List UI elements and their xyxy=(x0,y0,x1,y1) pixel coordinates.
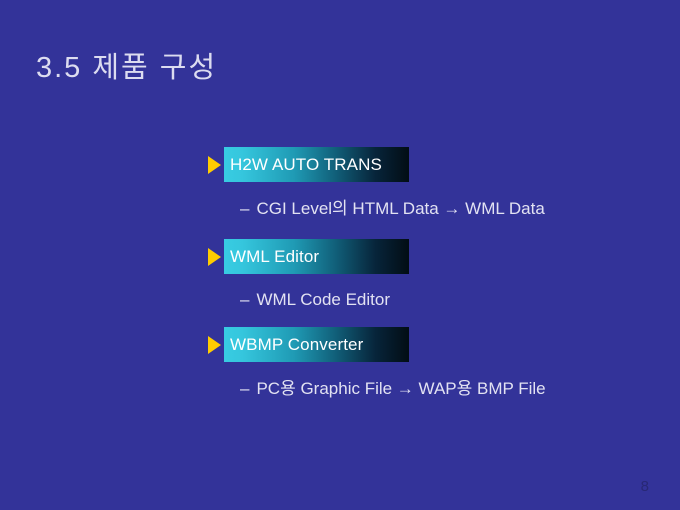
product-box-row[interactable]: WBMP Converter xyxy=(208,327,409,362)
product-detail-text: WML Code Editor xyxy=(256,289,390,311)
dash-bullet-icon: – xyxy=(240,199,249,219)
product-detail-text: PC용 Graphic File → WAP용 BMP File xyxy=(256,378,545,400)
triangle-right-icon xyxy=(208,248,221,266)
product-detail-row: – PC용 Graphic File → WAP용 BMP File xyxy=(240,378,546,400)
product-detail-row: – WML Code Editor xyxy=(240,289,390,311)
dash-bullet-icon: – xyxy=(240,290,249,310)
product-box-label: WBMP Converter xyxy=(230,335,363,355)
page-number: 8 xyxy=(641,478,649,496)
product-box[interactable]: WML Editor xyxy=(224,239,409,274)
triangle-right-icon xyxy=(208,156,221,174)
product-box[interactable]: WBMP Converter xyxy=(224,327,409,362)
slide-canvas: 3.5 제품 구성 H2W AUTO TRANS – CGI Level의 HT… xyxy=(0,0,680,510)
product-box-label: H2W AUTO TRANS xyxy=(230,155,382,175)
product-box[interactable]: H2W AUTO TRANS xyxy=(224,147,409,182)
product-box-row[interactable]: WML Editor xyxy=(208,239,409,274)
product-detail-row: – CGI Level의 HTML Data → WML Data xyxy=(240,198,545,220)
slide-content: H2W AUTO TRANS – CGI Level의 HTML Data → … xyxy=(0,0,680,510)
product-box-row[interactable]: H2W AUTO TRANS xyxy=(208,147,409,182)
product-box-label: WML Editor xyxy=(230,247,319,267)
triangle-right-icon xyxy=(208,336,221,354)
dash-bullet-icon: – xyxy=(240,379,249,399)
product-detail-text: CGI Level의 HTML Data → WML Data xyxy=(256,198,544,220)
